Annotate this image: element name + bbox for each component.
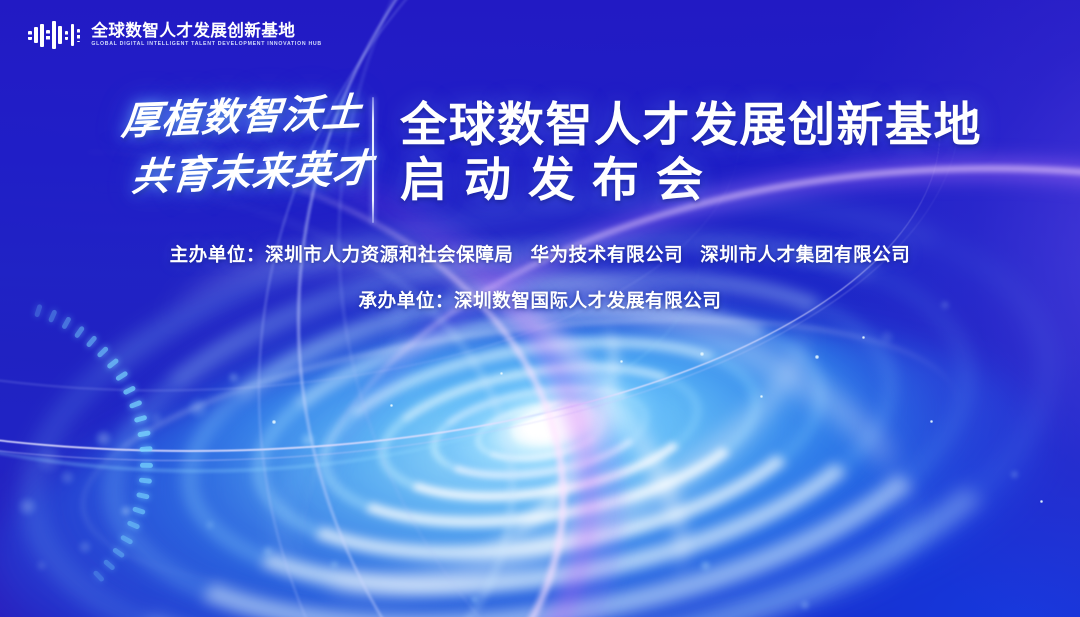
page-title: 全球数智人才发展创新基地 启动发布会 (400, 98, 982, 208)
page-title-line-2: 启动发布会 (400, 151, 982, 208)
organizer-row-host: 主办单位：深圳市人力资源和社会保障局华为技术有限公司深圳市人才集团有限公司 (0, 246, 1080, 265)
brand-logo[interactable]: 全球数智人才发展创新基地 GLOBAL DIGITAL INTELLIGENT … (28, 21, 322, 49)
logo-bar-8 (71, 24, 75, 46)
logo-bar-3 (40, 24, 44, 47)
organizer-label: 承办单位： (359, 290, 455, 311)
logo-bar-1 (28, 31, 32, 40)
logo-bar-6 (58, 26, 62, 44)
organizer-entity: 深圳市人才集团有限公司 (700, 244, 910, 265)
banner-content: 全球数智人才发展创新基地 GLOBAL DIGITAL INTELLIGENT … (0, 0, 1080, 617)
slogan-line-1: 厚植数智沃土 (120, 93, 364, 141)
organizer-entity: 深圳数智国际人才发展有限公司 (454, 290, 721, 311)
logo-bar-4 (46, 30, 50, 41)
organizer-row-co-organizer: 承办单位：深圳数智国际人才发展有限公司 (0, 292, 1080, 311)
logo-bar-9 (77, 29, 81, 42)
organizer-label: 主办单位： (170, 244, 266, 265)
logo-bar-2 (34, 27, 38, 43)
logo-bar-7 (65, 31, 69, 40)
organizer-list: 主办单位：深圳市人力资源和社会保障局华为技术有限公司深圳市人才集团有限公司承办单… (0, 246, 1080, 310)
calligraphy-slogan: 厚植数智沃土 共育未来英才 (120, 96, 360, 218)
organizer-entity: 深圳市人力资源和社会保障局 (265, 244, 513, 265)
brand-name-cn: 全球数智人才发展创新基地 (91, 23, 322, 40)
organizer-entity: 华为技术有限公司 (530, 244, 683, 265)
brand-logo-text: 全球数智人才发展创新基地 GLOBAL DIGITAL INTELLIGENT … (91, 23, 322, 47)
slogan-line-2: 共育未来英才 (130, 149, 374, 197)
brand-name-en: GLOBAL DIGITAL INTELLIGENT TALENT DEVELO… (91, 41, 322, 47)
logo-bar-5 (52, 21, 56, 49)
page-title-line-1: 全球数智人才发展创新基地 (400, 98, 982, 151)
vertical-divider (372, 97, 374, 223)
event-banner: 全球数智人才发展创新基地 GLOBAL DIGITAL INTELLIGENT … (0, 0, 1080, 617)
equalizer-bars-icon (28, 21, 80, 49)
